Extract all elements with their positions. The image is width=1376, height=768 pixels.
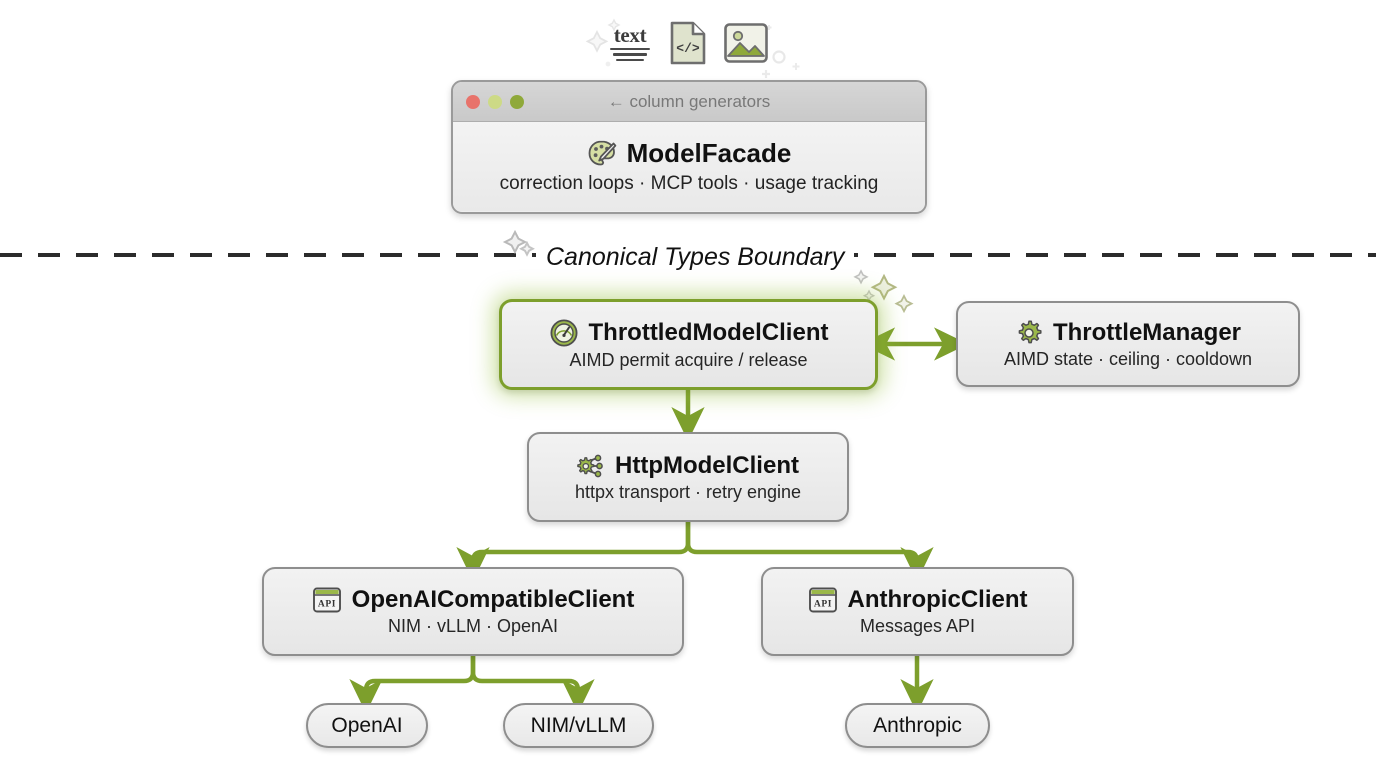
node-subtitle: httpx transport · retry engine <box>575 482 801 503</box>
text-icon: text <box>607 25 653 62</box>
image-file-icon <box>723 22 769 64</box>
api-window-icon: API <box>312 586 342 614</box>
code-file-icon: </> <box>669 20 707 66</box>
node-title-row: HttpModelClient <box>577 452 799 480</box>
node-subtitle: Messages API <box>860 616 975 637</box>
node-subtitle: AIMD state · ceiling · cooldown <box>1004 349 1252 370</box>
diagram-canvas: text </> <box>0 0 1376 768</box>
leaf-anthropic[interactable]: Anthropic <box>845 703 990 748</box>
model-facade-subtitle: correction loops · MCP tools · usage tra… <box>500 173 879 195</box>
window-titlebar[interactable]: ← column generators <box>453 82 925 122</box>
canonical-types-boundary-label: Canonical Types Boundary <box>536 243 854 272</box>
sparkle-cluster-left <box>505 232 533 255</box>
leaf-nim-vllm[interactable]: NIM/vLLM <box>503 703 654 748</box>
text-icon-label: text <box>614 25 647 45</box>
edge-http-to-anthropic-client <box>688 522 917 565</box>
leaf-openai[interactable]: OpenAI <box>306 703 428 748</box>
node-title: AnthropicClient <box>848 586 1028 614</box>
leaf-label: Anthropic <box>873 714 962 738</box>
window-title-label: column generators <box>629 92 770 111</box>
gauge-icon <box>549 318 579 348</box>
node-title: OpenAICompatibleClient <box>352 586 635 614</box>
svg-text:API: API <box>813 600 831 610</box>
api-window-icon: API <box>808 586 838 614</box>
svg-text:API: API <box>318 600 336 610</box>
node-openai-compatible-client[interactable]: API OpenAICompatibleClient NIM · vLLM · … <box>262 567 684 656</box>
text-icon-rule <box>613 53 647 56</box>
node-http-model-client[interactable]: HttpModelClient httpx transport · retry … <box>527 432 849 522</box>
back-arrow-icon[interactable]: ← <box>608 92 625 111</box>
model-facade-title-row: ModelFacade <box>587 138 792 169</box>
node-throttle-manager[interactable]: ThrottleManager AIMD state · ceiling · c… <box>956 301 1300 387</box>
window-title: ← column generators <box>453 92 925 112</box>
node-subtitle: NIM · vLLM · OpenAI <box>388 616 558 637</box>
node-subtitle: AIMD permit acquire / release <box>569 350 807 371</box>
edge-openai-compatible-to-openai <box>366 656 473 697</box>
gear-icon <box>1015 319 1043 347</box>
node-throttled-model-client[interactable]: ThrottledModelClient AIMD permit acquire… <box>499 299 878 390</box>
leaf-label: OpenAI <box>331 714 402 738</box>
edge-openai-compatible-to-nim-vllm <box>473 656 578 697</box>
model-facade-window[interactable]: ← column generators ModelFacade <box>451 80 927 214</box>
palette-icon <box>587 139 617 169</box>
model-facade-title: ModelFacade <box>627 138 792 169</box>
node-title: HttpModelClient <box>615 452 799 480</box>
node-anthropic-client[interactable]: API AnthropicClient Messages API <box>761 567 1074 656</box>
text-icon-rule <box>610 48 650 51</box>
svg-text:</>: </> <box>676 41 700 56</box>
media-icon-strip: text </> <box>588 14 788 72</box>
network-nodes-icon <box>577 452 605 480</box>
node-title-row: API AnthropicClient <box>808 586 1028 614</box>
node-title: ThrottleManager <box>1053 319 1241 347</box>
node-title-row: ThrottledModelClient <box>549 318 829 348</box>
node-title: ThrottledModelClient <box>589 319 829 347</box>
text-icon-rule <box>616 59 644 62</box>
edge-http-to-openai-compatible <box>473 522 688 565</box>
leaf-label: NIM/vLLM <box>531 714 627 738</box>
window-body: ModelFacade correction loops · MCP tools… <box>453 122 925 211</box>
node-title-row: API OpenAICompatibleClient <box>312 586 635 614</box>
node-title-row: ThrottleManager <box>1015 319 1241 347</box>
